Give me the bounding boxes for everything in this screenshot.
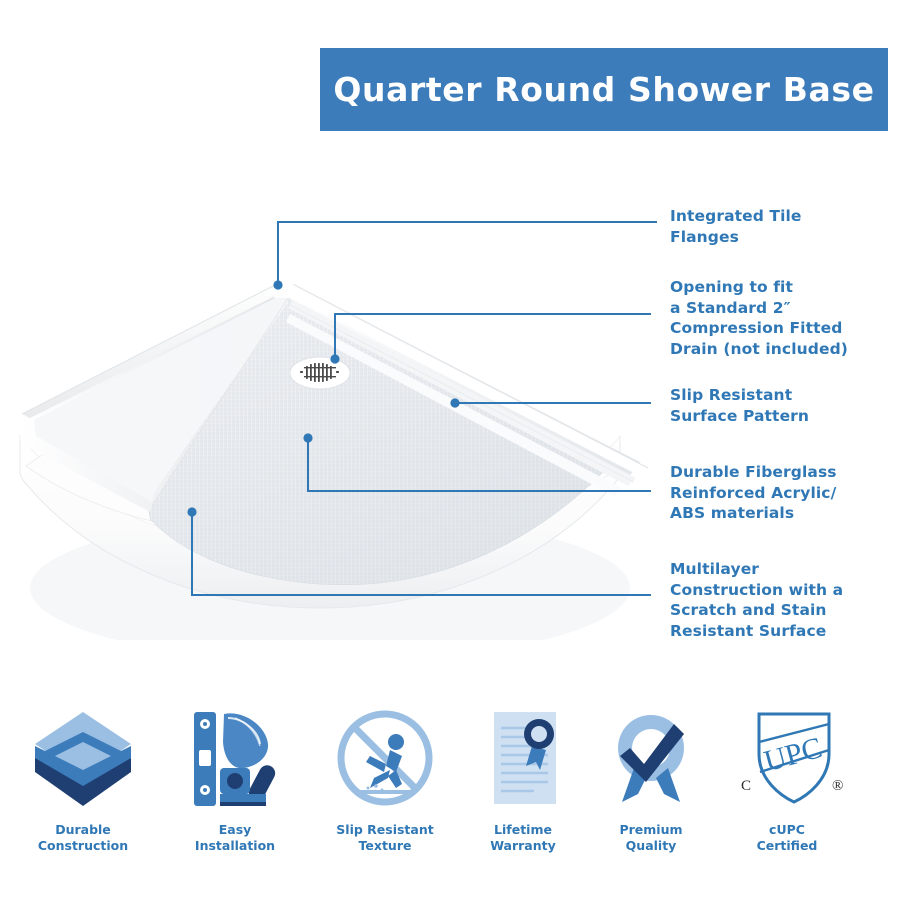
feature-durable-construction: Durable Construction	[8, 700, 158, 854]
no-slip-sign-icon	[310, 700, 460, 812]
feature-label: Premium Quality	[576, 822, 726, 854]
product-infographic: Quarter Round Shower Base	[0, 0, 900, 900]
feature-label: cUPC Certified	[712, 822, 862, 854]
level-and-trowel-icon	[160, 700, 310, 812]
callout-durable-fiberglass: Durable Fiberglass Reinforced Acrylic/ A…	[670, 462, 837, 524]
check-ribbon-icon	[576, 700, 726, 812]
feature-easy-installation: Easy Installation	[160, 700, 310, 854]
product-illustration	[0, 240, 660, 640]
drain-grate	[290, 357, 350, 389]
upc-right-mark: ®	[832, 778, 843, 794]
feature-badge-row: Durable Construction	[0, 700, 900, 870]
feature-slip-resistant-texture: Slip Resistant Texture	[310, 700, 460, 854]
callout-multilayer-construction: Multilayer Construction with a Scratch a…	[670, 559, 843, 641]
title-banner: Quarter Round Shower Base	[320, 48, 888, 131]
callout-slip-resistant-surface: Slip Resistant Surface Pattern	[670, 385, 809, 426]
flange-apex-highlight	[274, 278, 296, 298]
page-title: Quarter Round Shower Base	[333, 70, 874, 109]
callout-integrated-tile-flanges: Integrated Tile Flanges	[670, 206, 802, 247]
stacked-layers-icon	[8, 700, 158, 812]
upc-shield-icon: UPC C ®	[712, 700, 862, 812]
feature-premium-quality: Premium Quality	[576, 700, 726, 854]
feature-label: Easy Installation	[160, 822, 310, 854]
callout-drain-opening: Opening to fit a Standard 2″ Compression…	[670, 277, 848, 359]
upc-left-mark: C	[741, 778, 751, 794]
feature-label: Durable Construction	[8, 822, 158, 854]
feature-label: Slip Resistant Texture	[310, 822, 460, 854]
feature-cupc-certified: UPC C ® cUPC Certified	[712, 700, 862, 854]
